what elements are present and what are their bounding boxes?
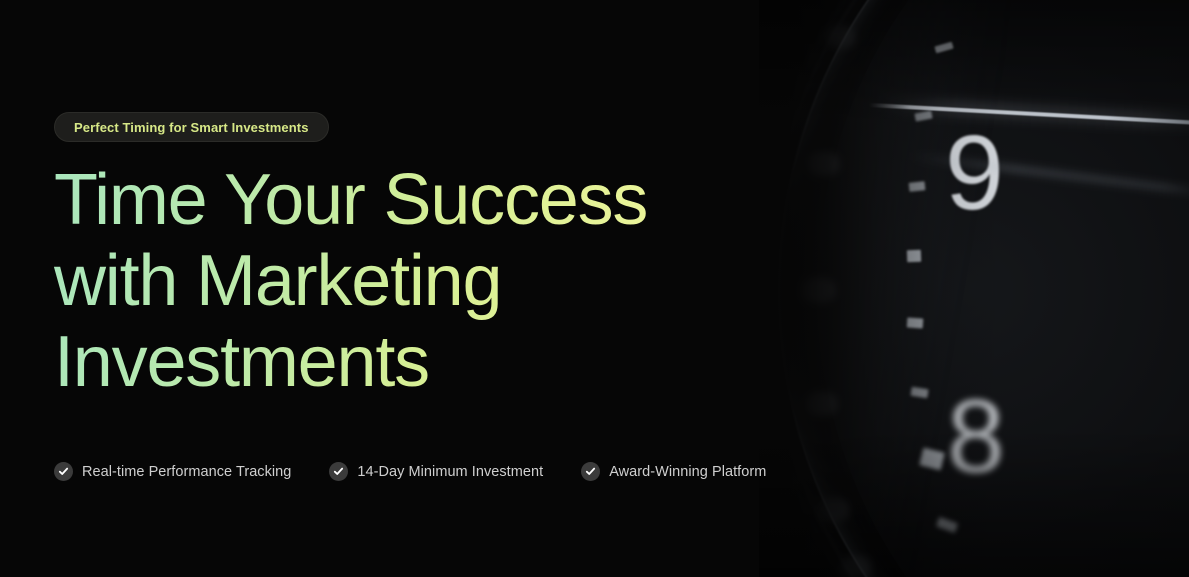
- feature-label: 14-Day Minimum Investment: [357, 464, 543, 480]
- feature-label: Real-time Performance Tracking: [82, 464, 291, 480]
- check-circle-icon: [54, 462, 73, 481]
- eyebrow-badge: Perfect Timing for Smart Investments: [54, 112, 329, 142]
- photo-vignette: [759, 0, 1189, 577]
- check-circle-icon: [581, 462, 600, 481]
- page-title: Time Your Success with Marketing Investm…: [54, 160, 647, 403]
- feature-item: 14-Day Minimum Investment: [329, 462, 543, 481]
- hero-content: Perfect Timing for Smart Investments Tim…: [54, 0, 814, 577]
- feature-list: Real-time Performance Tracking 14-Day Mi…: [54, 462, 766, 481]
- feature-item: Award-Winning Platform: [581, 462, 766, 481]
- feature-item: Real-time Performance Tracking: [54, 462, 291, 481]
- eyebrow-badge-label: Perfect Timing for Smart Investments: [74, 120, 309, 135]
- hero-section: 9 8 Perfect Timing for Smart Investments…: [0, 0, 1189, 577]
- feature-label: Award-Winning Platform: [609, 464, 766, 480]
- check-circle-icon: [329, 462, 348, 481]
- clock-face-photo: 9 8: [759, 0, 1189, 577]
